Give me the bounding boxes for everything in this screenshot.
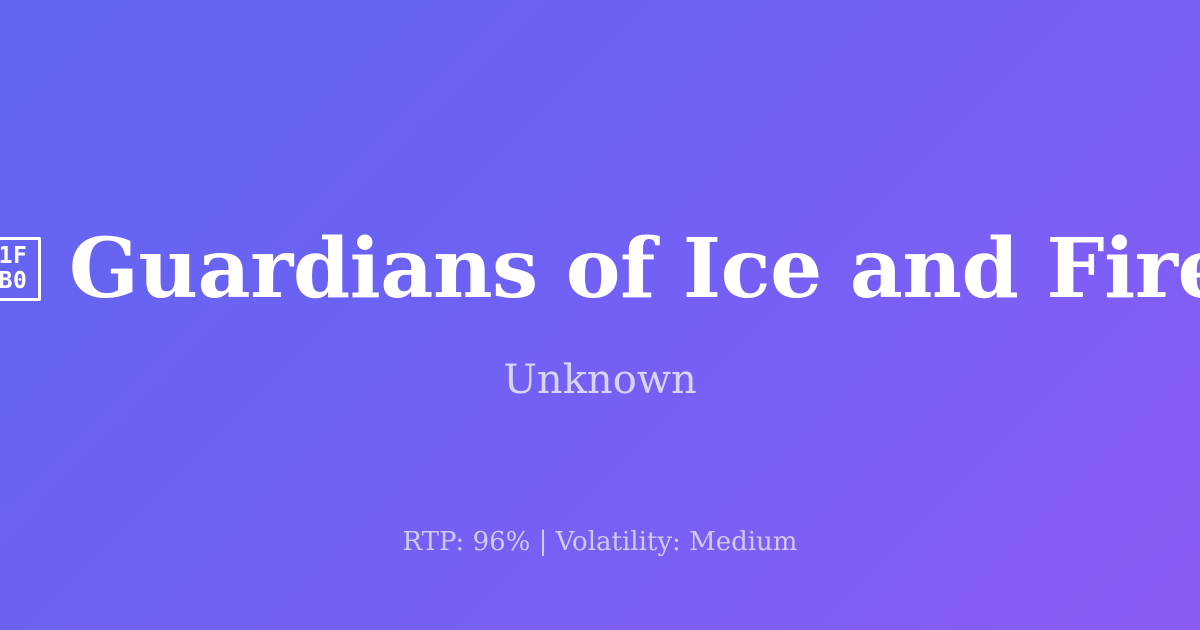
game-meta-footer: RTP: 96% | Volatility: Medium (0, 527, 1200, 558)
tofu-codepoint-top: 01F (0, 245, 27, 268)
og-card: 01F 3B0 Guardians of Ice and Fire Unknow… (0, 0, 1200, 630)
headline-row: 01F 3B0 Guardians of Ice and Fire (0, 226, 1200, 312)
slot-machine-emoji-tofu-icon: 01F 3B0 (0, 237, 41, 301)
subtitle: Unknown (503, 356, 697, 404)
page-title: Guardians of Ice and Fire (69, 226, 1200, 312)
tofu-codepoint-bottom: 3B0 (0, 270, 27, 293)
